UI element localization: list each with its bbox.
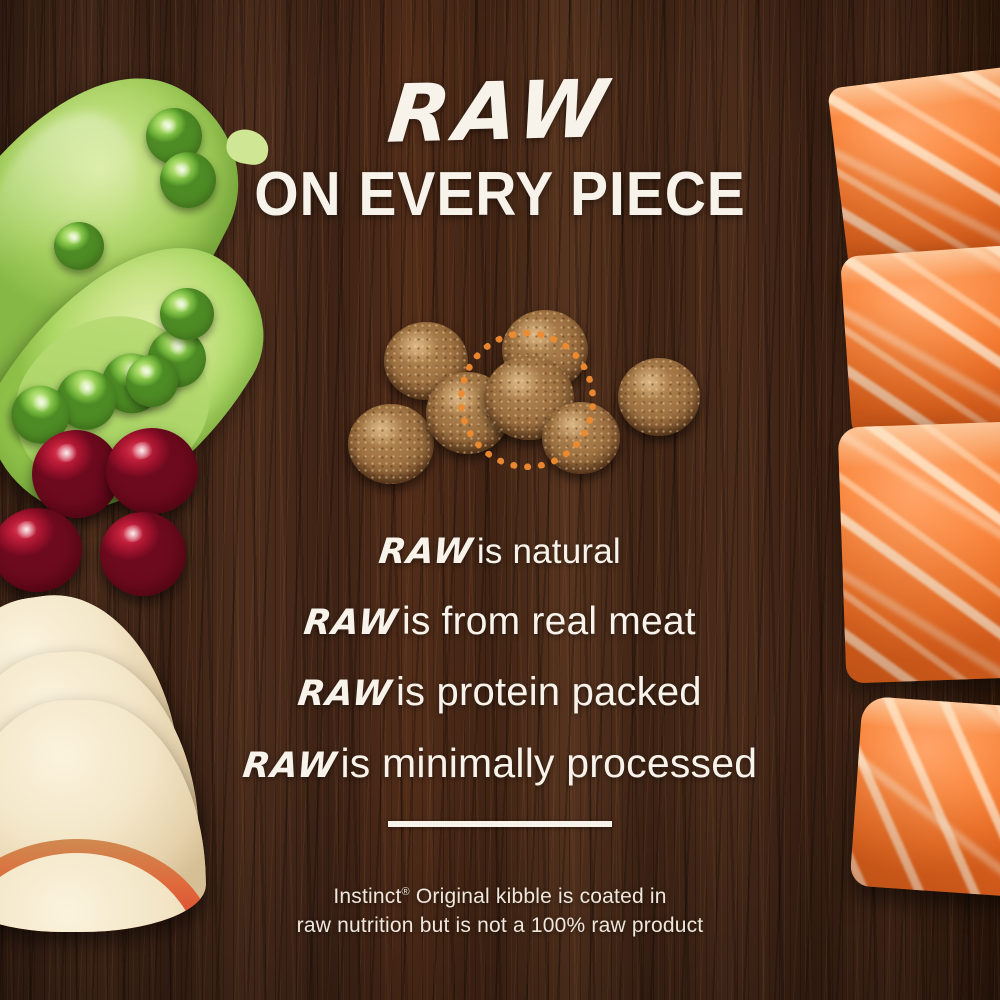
ad-canvas: RAW ON EVERY PIECE RAWis natural RAWis f…: [0, 0, 1000, 1000]
loose-pea: [160, 288, 214, 340]
salmon-shading: [840, 243, 1000, 438]
cranberry: [106, 428, 198, 514]
salmon-fillet-upper-mid: [840, 243, 1000, 438]
cranberry: [100, 512, 186, 596]
salmon-shading: [838, 421, 1000, 684]
salmon-fillet-top: [827, 65, 1000, 278]
kibble-cluster: [330, 300, 710, 500]
loose-pea: [160, 152, 216, 208]
salmon-fillet-lower-mid: [838, 421, 1000, 684]
salmon-shading: [827, 65, 1000, 278]
salmon-fillet-bottom: [850, 696, 1000, 899]
divider-rule: [388, 821, 612, 827]
kibble-piece: [618, 358, 700, 436]
loose-pea: [126, 355, 178, 407]
kibble-piece: [348, 404, 434, 484]
loose-pea: [54, 222, 104, 270]
salmon-shading: [850, 696, 1000, 899]
